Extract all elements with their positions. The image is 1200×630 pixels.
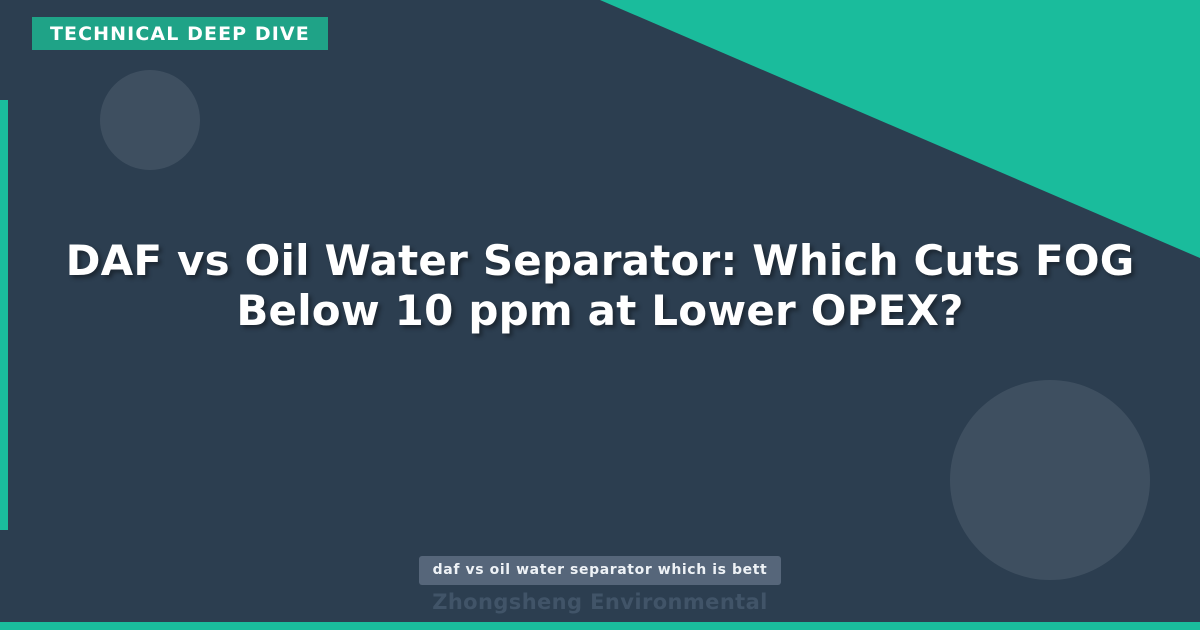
brand-name: Zhongsheng Environmental [432,590,768,614]
headline-container: DAF vs Oil Water Separator: Which Cuts F… [60,236,1140,335]
category-badge-label: TECHNICAL DEEP DIVE [50,23,310,45]
page-title: DAF vs Oil Water Separator: Which Cuts F… [60,236,1140,335]
keyword-tag: daf vs oil water separator which is bett [419,556,782,585]
left-accent-bar [0,100,8,530]
keyword-tag-row: daf vs oil water separator which is bett [0,556,1200,585]
category-badge: TECHNICAL DEEP DIVE [32,17,328,50]
social-card: TECHNICAL DEEP DIVE DAF vs Oil Water Sep… [0,0,1200,630]
decorative-circle-bottom-right [950,380,1150,580]
decorative-circle-top-left [100,70,200,170]
bottom-accent-bar [0,622,1200,630]
corner-wedge-polygon [600,0,1200,258]
brand-footer-row: Zhongsheng Environmental [0,590,1200,614]
